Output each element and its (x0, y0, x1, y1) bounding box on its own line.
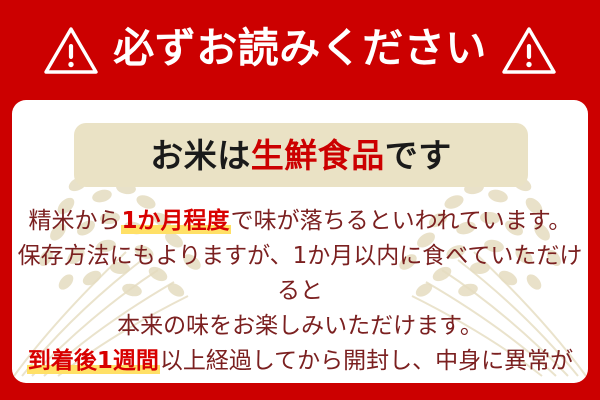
subtitle-suffix: です (385, 136, 452, 175)
paragraph-2-line-1: 到着後1週間以上経過してから開封し、中身に異常が (12, 344, 588, 379)
page-title: 必ずお読みください (113, 28, 487, 73)
notice-banner-image: 必ずお読みください (0, 0, 600, 400)
paragraph-1-line-3: 本来の味をお楽しみいただけます。 (12, 309, 588, 344)
text-segment: 精米から (29, 208, 121, 234)
highlighted-term: 到着後1週間 (27, 348, 160, 374)
notice-card: お米は生鮮食品です 精米から1か月程度で味が落ちるといわれています。 保存方法に… (12, 100, 588, 383)
paragraph-1-line-2: 保存方法にもよりますが、1か月以内に食べていただけると (12, 239, 588, 309)
text-segment: 以上経過してから開封し、中身に異常が (160, 348, 573, 374)
paragraph-1-line-1: 精米から1か月程度で味が落ちるといわれています。 (12, 204, 588, 239)
paragraph-1: 精米から1か月程度で味が落ちるといわれています。 保存方法にもよりますが、1か月… (12, 204, 588, 344)
subtitle-emphasis: 生鮮食品 (251, 136, 385, 175)
subtitle-text: お米は生鮮食品です (150, 139, 452, 172)
subtitle-prefix: お米は (150, 136, 251, 175)
header-bar: 必ずお読みください (0, 0, 600, 100)
warning-triangle-icon (501, 25, 557, 75)
subtitle-banner: お米は生鮮食品です (74, 123, 528, 187)
paragraph-2-line-2: あった場合には、対応致しかねますのでご了承ください。 (12, 379, 588, 383)
body-copy: 精米から1か月程度で味が落ちるといわれています。 保存方法にもよりますが、1か月… (12, 204, 588, 383)
text-segment: で味が落ちるといわれています。 (231, 208, 572, 234)
warning-triangle-icon (43, 25, 99, 75)
highlighted-term: 1か月程度 (121, 208, 231, 234)
paragraph-2: 到着後1週間以上経過してから開封し、中身に異常が あった場合には、対応致しかねま… (12, 344, 588, 383)
